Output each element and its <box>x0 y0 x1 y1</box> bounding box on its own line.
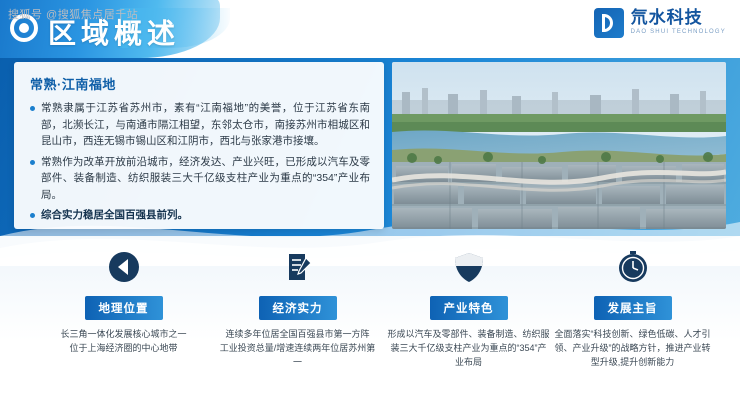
feature-location: 地理位置 长三角一体化发展核心城市之一 位于上海经济圈的中心地带 <box>36 248 211 355</box>
feature-desc: 连续多年位居全国百强县市第一方阵 工业投资总量/增速连续两年位居苏州第一 <box>210 327 385 369</box>
feature-development: 发展主旨 全面落实“科技创新、绿色低碳、人才引领、产业升级”的战略方针，推进产业… <box>545 248 720 369</box>
bullet-list: 常熟隶属于江苏省苏州市，素有“江南福地”的美誉，位于江苏省东南部，北濒长江，与南… <box>28 100 370 224</box>
list-item: 常熟作为改革开放前沿城市，经济发达、产业兴旺，已形成以汽车及零部件、装备制造、纺… <box>28 154 370 204</box>
description-panel: 常熟·江南福地 常熟隶属于江苏省苏州市，素有“江南福地”的美誉，位于江苏省东南部… <box>14 62 384 229</box>
location-pin-icon <box>105 248 143 286</box>
list-item: 常熟隶属于江苏省苏州市，素有“江南福地”的美誉，位于江苏省东南部，北濒长江，与南… <box>28 100 370 150</box>
clock-icon <box>614 248 652 286</box>
feature-industry: 产业特色 形成以汽车及零部件、装备制造、纺织服装三大千亿级支柱产业为重点的“35… <box>381 248 556 369</box>
list-item: 综合实力稳居全国百强县前列。 <box>28 207 370 224</box>
slide-page: 区域概述 氘水科技 DAO SHUI TECHNOLOGY 搜狐号 @搜狐焦点居… <box>0 0 740 410</box>
panel-title: 常熟·江南福地 <box>30 74 370 93</box>
feature-row: 地理位置 长三角一体化发展核心城市之一 位于上海经济圈的中心地带 经济实力 连续… <box>0 248 740 408</box>
feature-label: 产业特色 <box>430 296 508 320</box>
feature-economy: 经济实力 连续多年位居全国百强县市第一方阵 工业投资总量/增速连续两年位居苏州第… <box>210 248 385 369</box>
aerial-city-photo <box>392 62 726 229</box>
feature-label: 发展主旨 <box>594 296 672 320</box>
feature-desc: 长三角一体化发展核心城市之一 位于上海经济圈的中心地带 <box>36 327 211 355</box>
daoshui-logo-icon <box>594 8 624 38</box>
watermark-text: 搜狐号 @搜狐焦点居千站 <box>8 6 138 22</box>
feature-desc: 形成以汽车及零部件、装备制造、纺织服装三大千亿级支柱产业为重点的“354”产业布… <box>381 327 556 369</box>
brand-logo: 氘水科技 DAO SHUI TECHNOLOGY <box>594 8 726 38</box>
feature-label: 经济实力 <box>259 296 337 320</box>
document-pen-icon <box>279 248 317 286</box>
feature-desc: 全面落实“科技创新、绿色低碳、人才引领、产业升级”的战略方针，推进产业转型升级,… <box>545 327 720 369</box>
shield-icon <box>450 248 488 286</box>
brand-name-cn: 氘水科技 <box>631 9 726 27</box>
feature-label: 地理位置 <box>85 296 163 320</box>
circle-ring-icon-core <box>19 23 29 33</box>
brand-name-en: DAO SHUI TECHNOLOGY <box>631 27 726 37</box>
brand-text: 氘水科技 DAO SHUI TECHNOLOGY <box>631 9 726 37</box>
